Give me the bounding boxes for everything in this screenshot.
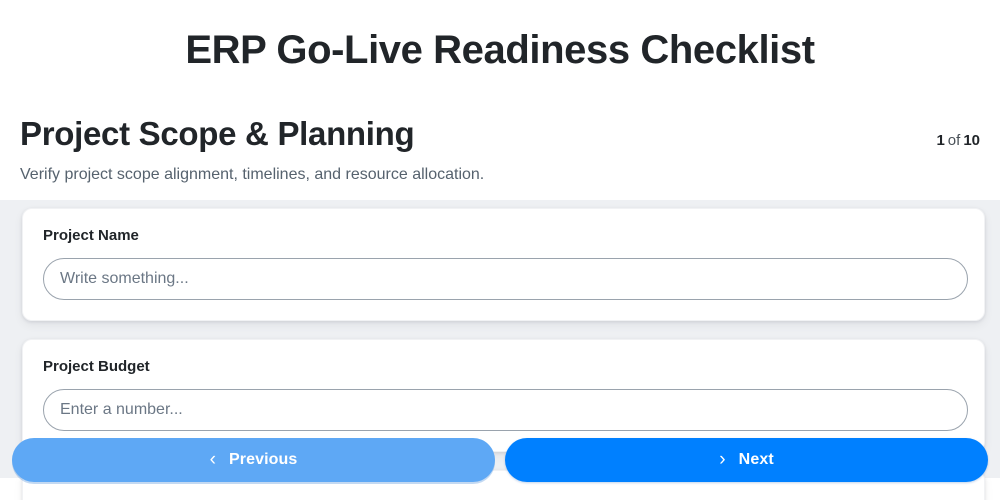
step-current: 1 [936,132,944,149]
section-subtitle: Verify project scope alignment, timeline… [0,154,1000,186]
checklist-page: ERP Go-Live Readiness Checklist Project … [0,0,1000,500]
next-button[interactable]: › Next [505,438,988,482]
previous-button-label: Previous [229,451,297,469]
field-card-project-name: Project Name [22,208,985,321]
field-card-project-budget: Project Budget [22,339,985,452]
chevron-right-icon: › [719,450,725,469]
field-label-project-name: Project Name [43,227,964,244]
previous-button[interactable]: ‹ Previous [12,438,495,482]
section-title: Project Scope & Planning [20,114,414,154]
section-header: Project Scope & Planning 1of10 [0,114,1000,154]
page-title: ERP Go-Live Readiness Checklist [0,0,1000,74]
step-separator: of [948,132,961,149]
chevron-left-icon: ‹ [210,450,216,469]
step-total: 10 [963,132,980,149]
step-counter: 1of10 [936,132,980,151]
field-label-project-budget: Project Budget [43,358,964,375]
navigation-bar: ‹ Previous › Next [0,438,1000,482]
next-button-label: Next [739,451,774,469]
fields-scroll-area[interactable]: Project Name Project Budget [0,200,1000,478]
project-name-input[interactable] [43,258,968,300]
project-budget-input[interactable] [43,389,968,431]
